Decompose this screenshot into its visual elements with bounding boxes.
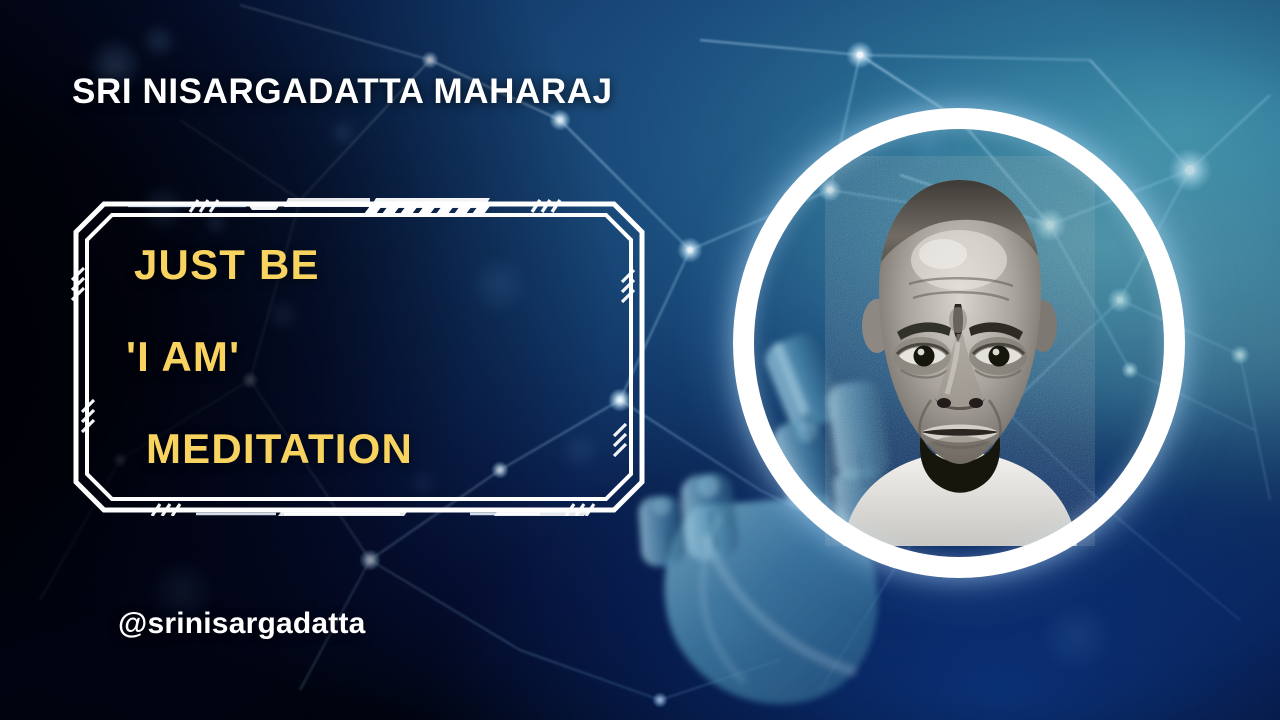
slide-canvas: SRI NISARGADATTA MAHARAJ <box>0 0 1280 720</box>
vignette-overlay <box>0 0 1280 720</box>
